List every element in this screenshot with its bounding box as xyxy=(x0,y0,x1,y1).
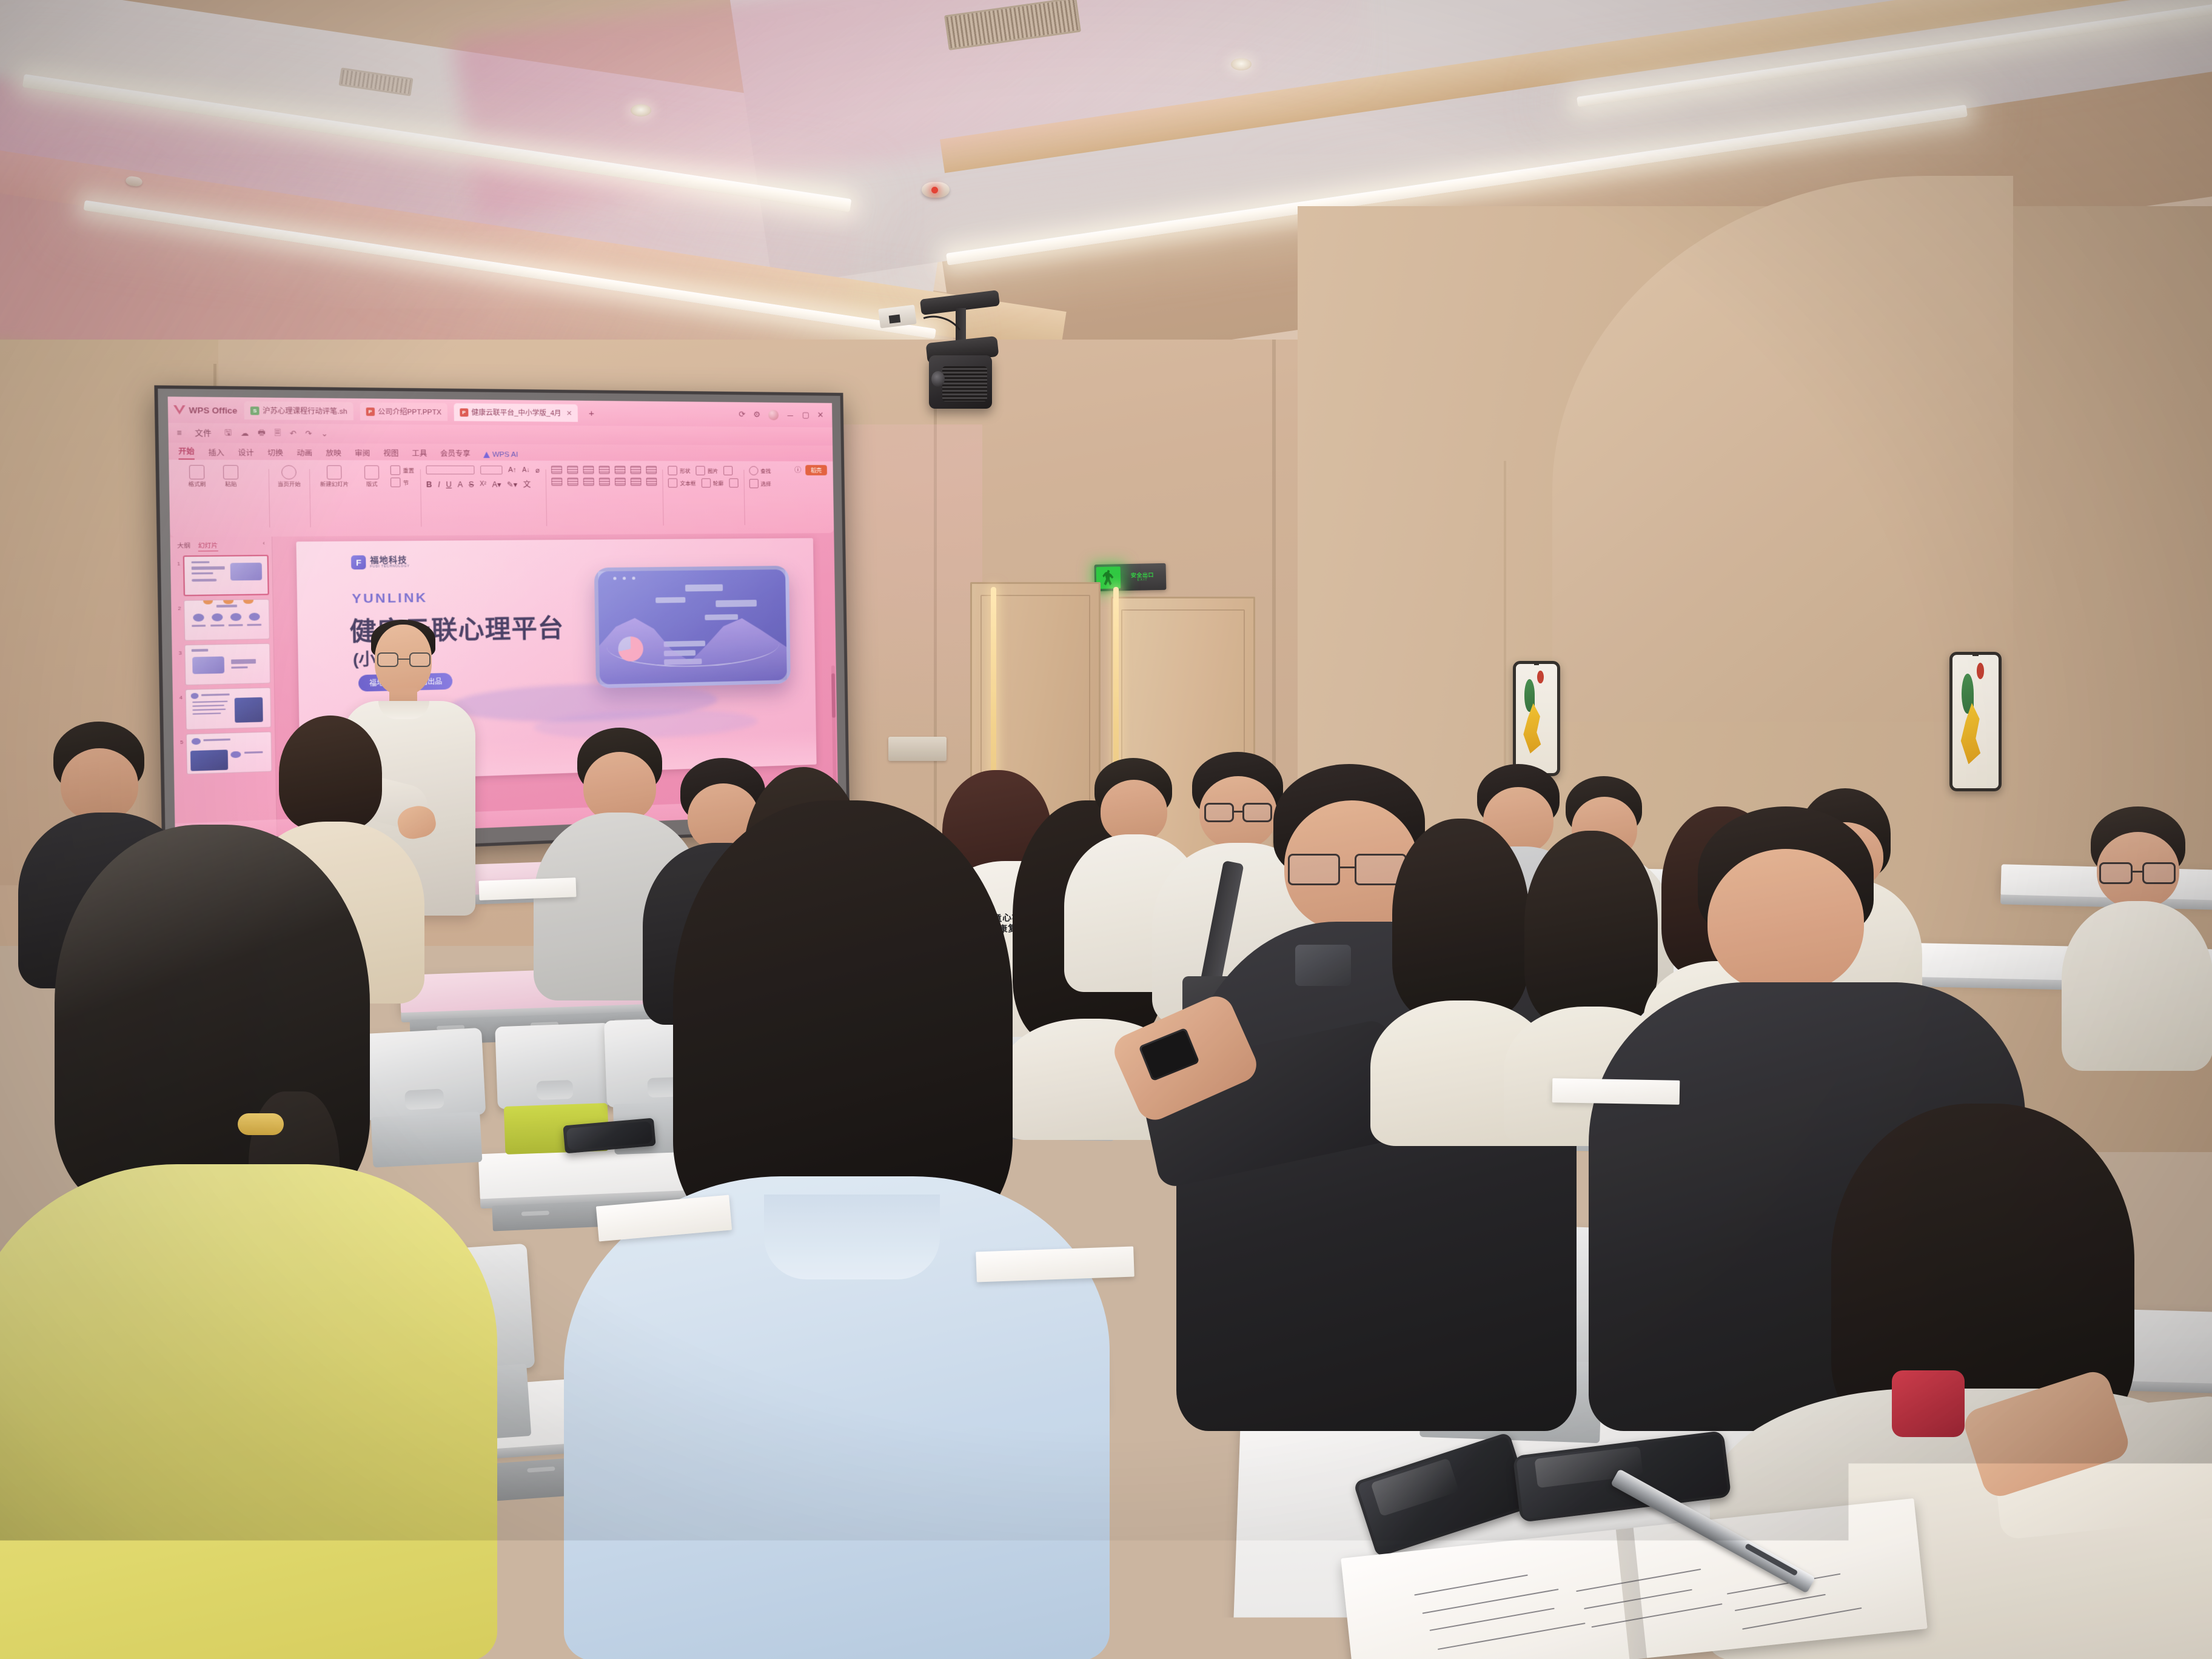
window-controls[interactable]: ⟳ ⚙ － ▢ ✕ xyxy=(739,409,828,421)
font-family-select[interactable] xyxy=(426,466,474,475)
ribbon-group-editing[interactable]: 查找 选择 xyxy=(743,465,777,530)
select-button[interactable]: 选择 xyxy=(749,479,771,488)
slide-thumbnail-1[interactable] xyxy=(183,555,269,596)
bullets-icon[interactable] xyxy=(551,466,562,474)
hamburger-icon[interactable]: ≡ xyxy=(176,428,181,437)
select-label: 选择 xyxy=(760,480,771,487)
format-painter-button[interactable]: 格式刷 xyxy=(182,465,212,488)
navigator-tabs[interactable]: 大纲 幻灯片 ‹ xyxy=(170,537,272,554)
tab-slides[interactable]: 幻灯片 xyxy=(198,540,218,552)
section-label: 节 xyxy=(403,478,409,486)
minimize-icon[interactable]: － xyxy=(786,409,794,421)
smoke-detector xyxy=(922,182,950,198)
projector-lens xyxy=(931,371,945,387)
columns-icon[interactable] xyxy=(631,478,642,486)
arrange-icon xyxy=(729,478,738,488)
font-format-row[interactable]: B I U A S X² A▾ ✎▾ 文 xyxy=(426,479,531,490)
papers-on-desk xyxy=(478,877,576,900)
wps-title-bar: WPS Office S 沪苏心理课程行动评笔.sh P 公司介绍PPT.PPT… xyxy=(168,397,833,427)
slide-number: 3 xyxy=(175,645,182,656)
wps-ai-icon xyxy=(483,452,490,458)
text-effects-button[interactable]: A xyxy=(457,480,463,489)
polo-logo-patch xyxy=(1295,945,1351,986)
quick-access-toolbar[interactable]: ≡ 文件 🖫 ☁ 🖶 🗏 ↶ ↷ ⌄ xyxy=(168,423,833,445)
redo-icon[interactable]: ↷ xyxy=(306,429,312,438)
slide-number: 1 xyxy=(174,555,181,566)
textbox-icon xyxy=(668,478,678,488)
wps-app-name: WPS Office xyxy=(189,405,237,415)
document-tab-label: 沪苏心理课程行动评笔.sh xyxy=(263,405,347,416)
textbox-label: 文本框 xyxy=(680,479,695,486)
reset-icon xyxy=(390,466,401,475)
font-size-row[interactable]: A↑ A↓ ⌀ xyxy=(426,466,540,475)
ceiling-downlight xyxy=(631,104,651,116)
align-right-icon[interactable] xyxy=(583,478,594,486)
slide-number: 4 xyxy=(176,689,183,701)
layout-button[interactable]: 版式 xyxy=(358,465,386,487)
help-icon[interactable]: ⓘ xyxy=(794,465,801,475)
new-slide-button[interactable]: 新建幻灯片 xyxy=(315,465,354,488)
ribbon[interactable]: 格式刷 粘贴 当页开始 xyxy=(169,460,834,537)
superscript-button[interactable]: X² xyxy=(480,481,486,488)
customize-qat-icon[interactable]: ⌄ xyxy=(321,429,327,438)
highlight-button[interactable]: ✎▾ xyxy=(507,480,517,489)
presenter-glasses-icon xyxy=(377,652,431,667)
pinyin-button[interactable]: 文 xyxy=(523,479,531,490)
papers-on-desk xyxy=(1552,1078,1680,1105)
search-icon xyxy=(749,466,758,475)
projector-vents xyxy=(942,366,987,401)
slide-thumbnail-item[interactable]: 2 xyxy=(175,599,270,641)
print-icon[interactable]: 🖶 xyxy=(258,426,266,440)
decrease-font-icon[interactable]: A↓ xyxy=(522,466,530,473)
picture-icon xyxy=(695,466,705,475)
spreadsheet-icon: S xyxy=(250,406,260,415)
section-icon xyxy=(390,478,401,488)
start-from-current-label: 当页开始 xyxy=(278,481,301,488)
ribbon-tab-review[interactable]: 审阅 xyxy=(355,448,370,460)
paste-icon xyxy=(223,465,238,480)
ceiling-downlight xyxy=(1231,58,1252,70)
wps-ai-label: WPS AI xyxy=(492,451,518,459)
close-icon[interactable]: ✕ xyxy=(817,411,824,420)
paste-label: 粘贴 xyxy=(225,481,236,488)
start-from-current-button[interactable]: 当页开始 xyxy=(275,465,304,488)
text-direction-icon[interactable] xyxy=(631,466,642,474)
fill-button[interactable] xyxy=(723,466,732,475)
presentation-icon: P xyxy=(366,407,375,416)
papers-on-desk xyxy=(976,1246,1134,1282)
maximize-icon[interactable]: ▢ xyxy=(802,410,809,420)
wall-art-right xyxy=(1949,652,2002,791)
copy-icon[interactable] xyxy=(250,481,263,492)
picture-label: 图片 xyxy=(708,467,718,474)
ribbon-group-paragraph[interactable] xyxy=(546,464,663,531)
slide-thumbnail-3[interactable] xyxy=(184,643,270,686)
paste-button[interactable]: 粘贴 xyxy=(216,465,245,488)
new-slide-label: 新建幻灯片 xyxy=(320,481,349,488)
document-tab-label: 公司介绍PPT.PPTX xyxy=(378,406,441,417)
clear-format-icon[interactable]: ⌀ xyxy=(535,466,540,474)
fudi-logo-icon: F xyxy=(351,555,366,570)
smoke-detector-led xyxy=(931,187,938,193)
wall-socket-plate xyxy=(878,304,916,328)
close-tab-icon[interactable]: ✕ xyxy=(566,409,572,417)
save-icon[interactable]: 🖫 xyxy=(224,426,232,440)
file-menu[interactable]: 文件 xyxy=(195,427,212,439)
ribbon-tab-slideshow[interactable]: 放映 xyxy=(326,448,341,460)
strikethrough-button[interactable]: S xyxy=(469,480,474,489)
outline-button[interactable]: 轮廓 xyxy=(701,478,723,488)
underline-button[interactable]: U xyxy=(446,480,452,489)
ribbon-group-slideshow[interactable]: 当页开始 xyxy=(269,464,310,533)
distribute-icon[interactable] xyxy=(615,478,626,486)
format-painter-icon xyxy=(189,465,205,480)
hair-tie xyxy=(238,1113,284,1135)
find-label: 查找 xyxy=(760,467,771,474)
undo-icon[interactable]: ↶ xyxy=(290,429,297,438)
exit-sign-en: EXIT xyxy=(1137,578,1147,581)
arrange-button[interactable] xyxy=(729,478,738,488)
select-icon xyxy=(749,479,758,488)
fill-icon xyxy=(723,466,732,475)
ribbon-tab-home[interactable]: 开始 xyxy=(178,446,195,460)
ribbon-tab-animations[interactable]: 动画 xyxy=(297,447,312,460)
tab-outline[interactable]: 大纲 xyxy=(177,540,190,552)
layout-icon xyxy=(364,465,380,479)
photo-scene: 安全出口 EXIT WPS Office S 沪苏心理课 xyxy=(0,0,2212,1659)
outline-label: 轮廓 xyxy=(713,479,723,486)
bold-button[interactable]: B xyxy=(426,480,432,489)
ribbon-tab-strip[interactable]: 开始 插入 设计 切换 动画 放映 审阅 视图 工具 会员专享 WPS AI xyxy=(169,443,833,461)
settings-icon[interactable]: ⚙ xyxy=(753,410,760,420)
wps-logo: WPS Office xyxy=(173,405,237,415)
collapse-panel-icon[interactable]: ‹ xyxy=(263,540,265,551)
shapes-label: 形状 xyxy=(680,467,691,474)
user-avatar[interactable] xyxy=(768,409,779,420)
red-phone-case xyxy=(1892,1370,1965,1437)
numbering-icon[interactable] xyxy=(567,466,578,474)
ribbon-tab-view[interactable]: 视图 xyxy=(383,448,399,460)
smartart-icon[interactable] xyxy=(646,478,657,486)
line-spacing-icon[interactable] xyxy=(615,466,626,474)
slide-illustration-monitor xyxy=(594,566,791,689)
play-icon xyxy=(281,465,297,480)
picture-button[interactable]: 图片 xyxy=(695,466,718,475)
font-size-select[interactable] xyxy=(480,466,503,475)
document-tab-1[interactable]: S 沪苏心理课程行动评笔.sh xyxy=(244,401,354,420)
ribbon-group-clipboard[interactable]: 格式刷 粘贴 xyxy=(176,464,269,534)
outline-icon xyxy=(701,478,710,488)
layout-label: 版式 xyxy=(366,481,378,488)
format-painter-label: 格式刷 xyxy=(188,481,206,488)
print-preview-icon[interactable]: 🗏 xyxy=(274,426,281,440)
presentation-icon: P xyxy=(460,408,468,417)
attendee-glasses-icon xyxy=(2099,862,2176,884)
increase-font-icon[interactable]: A↑ xyxy=(508,466,517,474)
shirt-collar xyxy=(764,1195,940,1279)
textbox-button[interactable]: 文本框 xyxy=(668,478,696,488)
align-vertical-icon[interactable] xyxy=(646,466,657,474)
find-button[interactable]: 查找 xyxy=(749,466,771,475)
align-left-icon[interactable] xyxy=(551,478,562,486)
italic-button[interactable]: I xyxy=(438,480,440,489)
justify-icon[interactable] xyxy=(599,478,610,486)
wps-logo-icon xyxy=(173,405,186,414)
slide-thumbnail-2[interactable] xyxy=(184,599,270,641)
shapes-icon xyxy=(668,466,677,475)
logo-company-cn: 福地科技 xyxy=(370,556,410,565)
docer-button[interactable]: 稻壳 xyxy=(805,465,827,475)
reset-label: 重置 xyxy=(403,466,414,474)
document-tab-label: 健康云联平台_中小学版_4月 xyxy=(471,407,561,418)
increase-indent-icon[interactable] xyxy=(599,466,610,474)
ribbon-tab-transitions[interactable]: 切换 xyxy=(267,447,283,460)
new-tab-button[interactable]: + xyxy=(584,408,598,419)
shapes-button[interactable]: 形状 xyxy=(668,466,690,475)
new-slide-icon xyxy=(327,465,342,479)
reset-button[interactable]: 重置 xyxy=(390,466,415,475)
paragraph-row-1[interactable] xyxy=(551,466,657,474)
sync-icon[interactable]: ⟳ xyxy=(739,409,745,419)
section-button[interactable]: 节 xyxy=(390,478,415,488)
ribbon-tab-member[interactable]: 会员专享 xyxy=(440,448,471,460)
ribbon-group-font[interactable]: A↑ A↓ ⌀ B I U A S X² A▾ ✎▾ 文 xyxy=(420,464,547,532)
ribbon-group-slides[interactable]: 新建幻灯片 版式 重置 节 xyxy=(309,464,421,532)
paragraph-row-2[interactable] xyxy=(551,478,657,486)
ribbon-tab-tools[interactable]: 工具 xyxy=(412,448,427,460)
slide-number: 2 xyxy=(175,600,181,612)
slide-thumbnail-item[interactable]: 3 xyxy=(175,643,270,686)
logo-company-en: FUDI TECHNOLOGY xyxy=(370,565,410,569)
ribbon-tab-insert[interactable]: 插入 xyxy=(208,447,224,460)
wall-outlet-panel xyxy=(888,737,947,761)
document-tab-2[interactable]: P 公司介绍PPT.PPTX xyxy=(360,403,447,421)
slide-thumbnail-item[interactable]: 1 xyxy=(174,555,269,596)
projector xyxy=(908,295,993,416)
slide-logo: F 福地科技 FUDI TECHNOLOGY xyxy=(351,555,410,569)
slide-eyebrow: YUNLINK xyxy=(352,591,428,607)
cloud-save-icon[interactable]: ☁ xyxy=(241,429,249,438)
font-color-button[interactable]: A▾ xyxy=(492,480,501,489)
ribbon-tab-wps-ai[interactable]: WPS AI xyxy=(483,451,518,461)
ribbon-right-controls[interactable]: ⓘ 稻壳 xyxy=(794,465,828,530)
document-tab-3[interactable]: P 健康云联平台_中小学版_4月 ✕ xyxy=(454,403,578,422)
ribbon-tab-design[interactable]: 设计 xyxy=(238,447,253,460)
align-center-icon[interactable] xyxy=(568,478,578,486)
decrease-indent-icon[interactable] xyxy=(583,466,594,474)
attendee-foreground-yellow xyxy=(0,825,497,1659)
ribbon-group-drawing[interactable]: 形状 图片 文本框 xyxy=(662,464,744,530)
cut-icon[interactable] xyxy=(250,466,263,478)
attendee-far-right-glasses xyxy=(2062,806,2212,1067)
exit-sign-cn: 安全出口 xyxy=(1131,572,1154,578)
